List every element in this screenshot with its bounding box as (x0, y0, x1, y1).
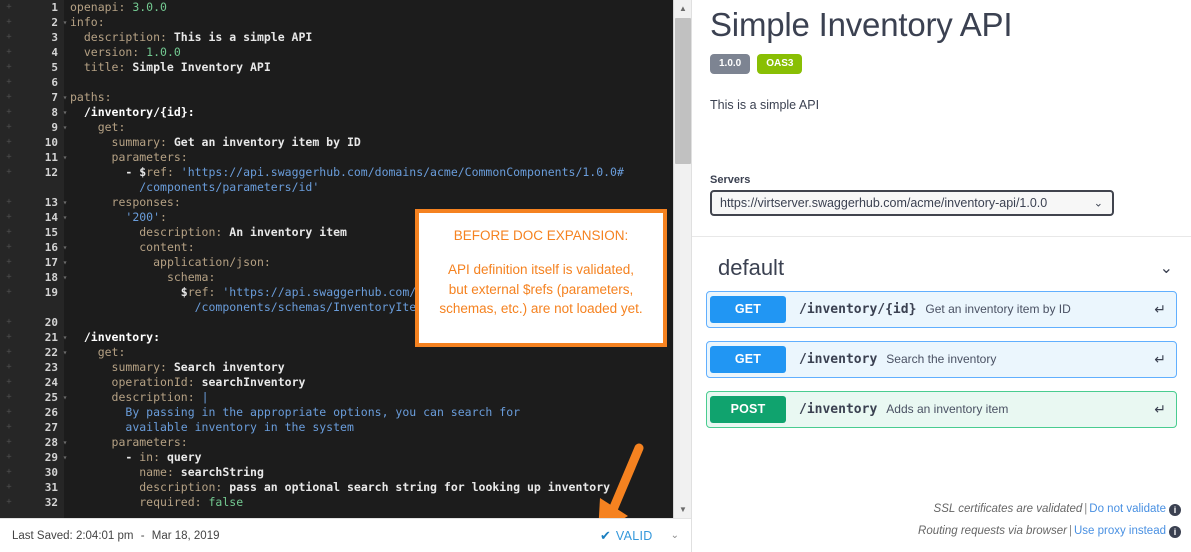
fold-marker: + (0, 375, 18, 390)
code-line[interactable]: - in: query (70, 450, 673, 465)
scroll-down-arrow-icon[interactable]: ▼ (674, 501, 691, 518)
code-line[interactable]: available inventory in the system (70, 420, 673, 435)
code-token: get: (98, 345, 126, 359)
ssl-setting-row: SSL certificates are validated|Do not va… (918, 498, 1181, 520)
code-token: | (202, 390, 209, 404)
code-token: searchInventory (202, 375, 306, 389)
fold-marker: + (0, 240, 18, 255)
fold-marker: + (0, 195, 18, 210)
fold-arrow-icon[interactable] (60, 165, 70, 180)
fold-arrow-icon[interactable] (60, 0, 70, 15)
code-token: description: (70, 30, 174, 44)
fold-arrow-icon[interactable] (60, 495, 70, 510)
code-line[interactable]: description: This is a simple API (70, 30, 673, 45)
scroll-up-arrow-icon[interactable]: ▲ (674, 0, 691, 17)
fold-arrow-icon[interactable] (60, 180, 70, 195)
code-token (70, 165, 125, 179)
chevron-down-icon: ⌄ (1094, 196, 1103, 209)
line-number: 27 (18, 420, 64, 435)
server-select[interactable]: https://virtserver.swaggerhub.com/acme/i… (710, 190, 1114, 216)
code-token: parameters: (112, 435, 188, 449)
last-saved-label: Last Saved: (12, 530, 73, 542)
fold-arrow-icon[interactable]: ▾ (60, 450, 70, 465)
code-token: application/json: (153, 255, 271, 269)
chevron-down-icon[interactable]: ⌄ (671, 530, 679, 541)
info-icon[interactable]: i (1169, 526, 1181, 538)
servers-label: Servers (710, 174, 1173, 186)
line-number: 12 (18, 165, 64, 180)
version-badge: 1.0.0 (710, 54, 750, 74)
code-token (70, 345, 98, 359)
fold-arrow-icon[interactable] (60, 315, 70, 330)
line-number: 16 (18, 240, 64, 255)
code-token: 1.0.0 (146, 45, 181, 59)
line-number: 13 (18, 195, 64, 210)
code-token: An inventory item (229, 225, 347, 239)
line-number: 1 (18, 0, 64, 15)
oas-badge: OAS3 (757, 54, 802, 74)
code-token (70, 255, 153, 269)
badge-group: 1.0.0 OAS3 (710, 54, 1173, 74)
code-token: $ (181, 285, 188, 299)
code-line[interactable] (70, 75, 673, 90)
code-token: Search inventory (174, 360, 285, 374)
code-line[interactable]: - $ref: 'https://api.swaggerhub.com/doma… (70, 165, 673, 180)
code-token (70, 300, 195, 314)
fold-marker: + (0, 45, 18, 60)
api-documentation-pane: Simple Inventory API 1.0.0 OAS3 This is … (691, 0, 1191, 552)
api-description: This is a simple API (710, 98, 1173, 112)
scrollbar-thumb[interactable] (675, 18, 691, 164)
code-token: in: (139, 450, 167, 464)
fold-marker: + (0, 345, 18, 360)
fold-arrow-icon[interactable] (60, 75, 70, 90)
code-line[interactable]: required: false (70, 495, 673, 510)
fold-arrow-icon[interactable]: ▾ (60, 195, 70, 210)
do-not-validate-link[interactable]: Do not validate (1089, 503, 1166, 515)
operation-path: /inventory (799, 352, 877, 367)
code-line[interactable]: name: searchString (70, 465, 673, 480)
code-token (70, 120, 98, 134)
fold-arrow-icon[interactable]: ▾ (60, 210, 70, 225)
code-line[interactable]: get: (70, 345, 673, 360)
line-number: 6 (18, 75, 64, 90)
operation-summary: Get an inventory item by ID (925, 302, 1070, 316)
tag-name: default (718, 255, 784, 281)
server-select-value: https://virtserver.swaggerhub.com/acme/i… (720, 196, 1047, 210)
code-token: version: (70, 45, 146, 59)
last-saved-status: Last Saved: 2:04:01 pm - Mar 18, 2019 (12, 530, 220, 542)
code-line[interactable]: /inventory/{id}: (70, 105, 673, 120)
fold-marker: + (0, 105, 18, 120)
code-token: schema: (167, 270, 215, 284)
fold-arrow-icon[interactable]: ▾ (60, 270, 70, 285)
code-token: /inventory/{id}: (70, 105, 195, 119)
code-token: - $ (125, 165, 146, 179)
fold-marker: + (0, 315, 18, 330)
code-token: content: (139, 240, 194, 254)
code-token: query (167, 450, 202, 464)
code-token: ref: (188, 285, 223, 299)
code-token: - (125, 450, 139, 464)
callout-body: API definition itself is validated,but e… (433, 260, 648, 319)
last-saved-time: 2:04:01 pm (76, 530, 134, 542)
fold-arrow-icon[interactable] (60, 360, 70, 375)
code-line[interactable]: description: | (70, 390, 673, 405)
line-number: 21 (18, 330, 64, 345)
code-token (70, 420, 125, 434)
editor-status-bar: Last Saved: 2:04:01 pm - Mar 18, 2019 ✔ … (0, 518, 691, 552)
code-token (70, 150, 112, 164)
operation-method-badge[interactable]: GET (710, 296, 786, 323)
operation-summary: Adds an inventory item (886, 402, 1008, 416)
code-token (70, 135, 112, 149)
fold-marker: + (0, 405, 18, 420)
fold-marker: + (0, 210, 18, 225)
code-line[interactable]: parameters: (70, 435, 673, 450)
operation-summary: Search the inventory (886, 352, 996, 366)
fold-marker (0, 300, 18, 315)
code-token: parameters: (112, 150, 188, 164)
code-token: description: (139, 480, 229, 494)
chevron-down-icon[interactable]: ⌄ (1160, 258, 1173, 278)
code-token (70, 495, 139, 509)
fold-marker: + (0, 225, 18, 240)
code-token: operationId: (112, 375, 202, 389)
line-number: 9 (18, 120, 64, 135)
last-saved-date: Mar 18, 2019 (152, 530, 220, 542)
fold-arrow-icon[interactable]: ▾ (60, 330, 70, 345)
fold-marker: + (0, 270, 18, 285)
code-token (70, 390, 112, 404)
line-number: 23 (18, 360, 64, 375)
code-line[interactable]: parameters: (70, 150, 673, 165)
code-token: get: (98, 120, 126, 134)
fold-arrow-icon[interactable]: ▾ (60, 105, 70, 120)
expand-arrow-icon[interactable]: ↵ (1154, 301, 1166, 318)
code-token (70, 285, 181, 299)
fold-arrow-icon[interactable] (60, 480, 70, 495)
code-token: 'https://api.swaggerhub.com/ (222, 285, 416, 299)
line-number: 15 (18, 225, 64, 240)
operation-path: /inventory/{id} (799, 302, 916, 317)
code-token: required: (139, 495, 208, 509)
code-token: Simple Inventory API (132, 60, 270, 74)
fold-marker: + (0, 15, 18, 30)
fold-marker: + (0, 150, 18, 165)
line-number: 20 (18, 315, 64, 330)
fold-marker: + (0, 390, 18, 405)
operation-row[interactable]: POST/inventoryAdds an inventory item↵ (706, 391, 1177, 428)
fold-arrow-icon[interactable]: ▾ (60, 435, 70, 450)
fold-marker: + (0, 255, 18, 270)
code-token: openapi: (70, 0, 132, 14)
code-token: pass an optional search string for looki… (229, 480, 610, 494)
last-saved-separator: - (137, 530, 149, 542)
code-line[interactable]: summary: Get an inventory item by ID (70, 135, 673, 150)
code-line[interactable]: operationId: searchInventory (70, 375, 673, 390)
fold-arrow-icon[interactable] (60, 285, 70, 300)
operation-path: /inventory (799, 402, 877, 417)
fold-marker: + (0, 420, 18, 435)
line-number: 22 (18, 345, 64, 360)
line-number: 18 (18, 270, 64, 285)
line-number: 19 (18, 285, 64, 300)
line-number: 31 (18, 480, 64, 495)
footer-pipe: | (1067, 525, 1074, 537)
fold-arrow-icon[interactable] (60, 60, 70, 75)
fold-marker: + (0, 165, 18, 180)
fold-marker: + (0, 435, 18, 450)
doc-footer: SSL certificates are validated|Do not va… (918, 498, 1181, 542)
fold-arrow-icon[interactable] (60, 225, 70, 240)
code-token: searchString (181, 465, 264, 479)
fold-marker: + (0, 0, 18, 15)
code-token (70, 270, 167, 284)
operation-row[interactable]: GET/inventorySearch the inventory↵ (706, 341, 1177, 378)
routing-status-text: Routing requests via browser (918, 525, 1067, 537)
code-token: 3.0.0 (132, 0, 167, 14)
fold-marker: + (0, 495, 18, 510)
code-token: ref: (146, 165, 181, 179)
code-token (70, 405, 125, 419)
code-token: info: (70, 15, 105, 29)
code-token: false (209, 495, 244, 509)
code-token (70, 360, 112, 374)
line-number: 29 (18, 450, 64, 465)
fold-arrow-icon[interactable] (60, 30, 70, 45)
line-number: 2 (18, 15, 64, 30)
fold-arrow-icon[interactable] (60, 465, 70, 480)
code-line[interactable]: description: pass an optional search str… (70, 480, 673, 495)
fold-arrow-icon[interactable]: ▾ (60, 120, 70, 135)
fold-marker (0, 180, 18, 195)
fold-marker: + (0, 30, 18, 45)
code-token (70, 465, 139, 479)
line-number: 26 (18, 405, 64, 420)
fold-arrow-icon[interactable]: ▾ (60, 390, 70, 405)
annotation-callout-box: BEFORE DOC EXPANSION: API definition its… (415, 209, 667, 347)
page-title: Simple Inventory API (710, 6, 1173, 44)
code-token: available inventory in the system (125, 420, 353, 434)
code-line[interactable]: paths: (70, 90, 673, 105)
code-line[interactable]: /components/parameters/id' (70, 180, 673, 195)
line-number: 14 (18, 210, 64, 225)
code-token: '200' (125, 210, 160, 224)
editor-vertical-scrollbar[interactable]: ▲ ▼ (673, 0, 691, 518)
fold-marker: + (0, 135, 18, 150)
code-token: Get an inventory item by ID (174, 135, 361, 149)
editor-fold-arrow-column[interactable]: ▾▾▾▾▾▾▾▾▾▾▾▾▾▾▾ (60, 0, 70, 518)
fold-arrow-icon[interactable]: ▾ (60, 150, 70, 165)
code-line[interactable]: get: (70, 120, 673, 135)
line-number (18, 180, 64, 195)
code-line[interactable]: By passing in the appropriate options, y… (70, 405, 673, 420)
line-number: 17 (18, 255, 64, 270)
operation-method-badge[interactable]: GET (710, 346, 786, 373)
code-line[interactable]: title: Simple Inventory API (70, 60, 673, 75)
callout-title: BEFORE DOC EXPANSION: (454, 228, 629, 244)
fold-arrow-icon[interactable] (60, 375, 70, 390)
code-token (70, 180, 139, 194)
code-token: /components/schemas/InventoryIte (195, 300, 417, 314)
fold-marker: + (0, 465, 18, 480)
fold-marker: + (0, 330, 18, 345)
code-token: description: (112, 390, 202, 404)
code-token: responses: (112, 195, 181, 209)
code-token (70, 375, 112, 389)
code-token: summary: (112, 135, 174, 149)
check-icon: ✔ (600, 528, 611, 544)
code-line[interactable]: responses: (70, 195, 673, 210)
fold-marker: + (0, 60, 18, 75)
expand-arrow-icon[interactable]: ↵ (1154, 351, 1166, 368)
line-number: 32 (18, 495, 64, 510)
line-number: 25 (18, 390, 64, 405)
fold-marker: + (0, 90, 18, 105)
info-icon[interactable]: i (1169, 504, 1181, 516)
fold-marker: + (0, 285, 18, 300)
fold-arrow-icon[interactable] (60, 300, 70, 315)
operation-row[interactable]: GET/inventory/{id}Get an inventory item … (706, 291, 1177, 328)
code-token (70, 225, 139, 239)
code-token (70, 450, 125, 464)
expand-arrow-icon[interactable]: ↵ (1154, 401, 1166, 418)
code-token (70, 210, 125, 224)
code-line[interactable]: version: 1.0.0 (70, 45, 673, 60)
fold-arrow-icon[interactable]: ▾ (60, 255, 70, 270)
code-line[interactable]: openapi: 3.0.0 (70, 0, 673, 15)
code-token: name: (139, 465, 181, 479)
fold-arrow-icon[interactable]: ▾ (60, 90, 70, 105)
fold-arrow-icon[interactable] (60, 405, 70, 420)
code-line[interactable]: summary: Search inventory (70, 360, 673, 375)
code-token (70, 240, 139, 254)
code-token: summary: (112, 360, 174, 374)
operation-method-badge[interactable]: POST (710, 396, 786, 423)
editor-fold-column: ++++++++++++++++++++++++++++++++ (0, 0, 18, 518)
code-token: /components/parameters/id' (139, 180, 319, 194)
line-number: 28 (18, 435, 64, 450)
fold-arrow-icon[interactable] (60, 420, 70, 435)
line-number: 7 (18, 90, 64, 105)
fold-arrow-icon[interactable]: ▾ (60, 15, 70, 30)
fold-marker: + (0, 480, 18, 495)
ssl-status-text: SSL certificates are validated (934, 503, 1083, 515)
servers-section: Servers https://virtserver.swaggerhub.co… (692, 174, 1191, 216)
code-token (70, 435, 112, 449)
code-token: This is a simple API (174, 30, 312, 44)
code-token (70, 480, 139, 494)
fold-marker: + (0, 450, 18, 465)
line-number: 30 (18, 465, 64, 480)
code-token (70, 195, 112, 209)
line-number: 3 (18, 30, 64, 45)
tag-section-header[interactable]: default ⌄ (692, 237, 1191, 291)
fold-arrow-icon[interactable]: ▾ (60, 240, 70, 255)
routing-setting-row: Routing requests via browser|Use proxy i… (918, 520, 1181, 542)
line-number: 5 (18, 60, 64, 75)
fold-arrow-icon[interactable] (60, 135, 70, 150)
use-proxy-link[interactable]: Use proxy instead (1074, 525, 1166, 537)
code-line[interactable]: info: (70, 15, 673, 30)
code-token: 'https://api.swaggerhub.com/domains/acme… (181, 165, 624, 179)
code-token: : (160, 210, 167, 224)
fold-arrow-icon[interactable] (60, 45, 70, 60)
code-token: /inventory: (70, 330, 160, 344)
line-number: 24 (18, 375, 64, 390)
line-number: 11 (18, 150, 64, 165)
editor-line-number-gutter: 1234567891011121314151617181920212223242… (18, 0, 64, 518)
operations-list: GET/inventory/{id}Get an inventory item … (692, 291, 1191, 428)
line-number: 4 (18, 45, 64, 60)
code-token: By passing in the appropriate options, y… (125, 405, 520, 419)
line-number: 10 (18, 135, 64, 150)
line-number: 8 (18, 105, 64, 120)
validation-status-label[interactable]: VALID (616, 529, 653, 543)
fold-arrow-icon[interactable]: ▾ (60, 345, 70, 360)
fold-marker: + (0, 120, 18, 135)
line-number (18, 300, 64, 315)
code-token: description: (139, 225, 229, 239)
code-token: paths: (70, 90, 112, 104)
fold-marker: + (0, 360, 18, 375)
doc-header: Simple Inventory API 1.0.0 OAS3 This is … (692, 0, 1191, 112)
code-token: title: (70, 60, 132, 74)
fold-marker: + (0, 75, 18, 90)
swaggerhub-editor-screen: ++++++++++++++++++++++++++++++++ 1234567… (0, 0, 1191, 552)
